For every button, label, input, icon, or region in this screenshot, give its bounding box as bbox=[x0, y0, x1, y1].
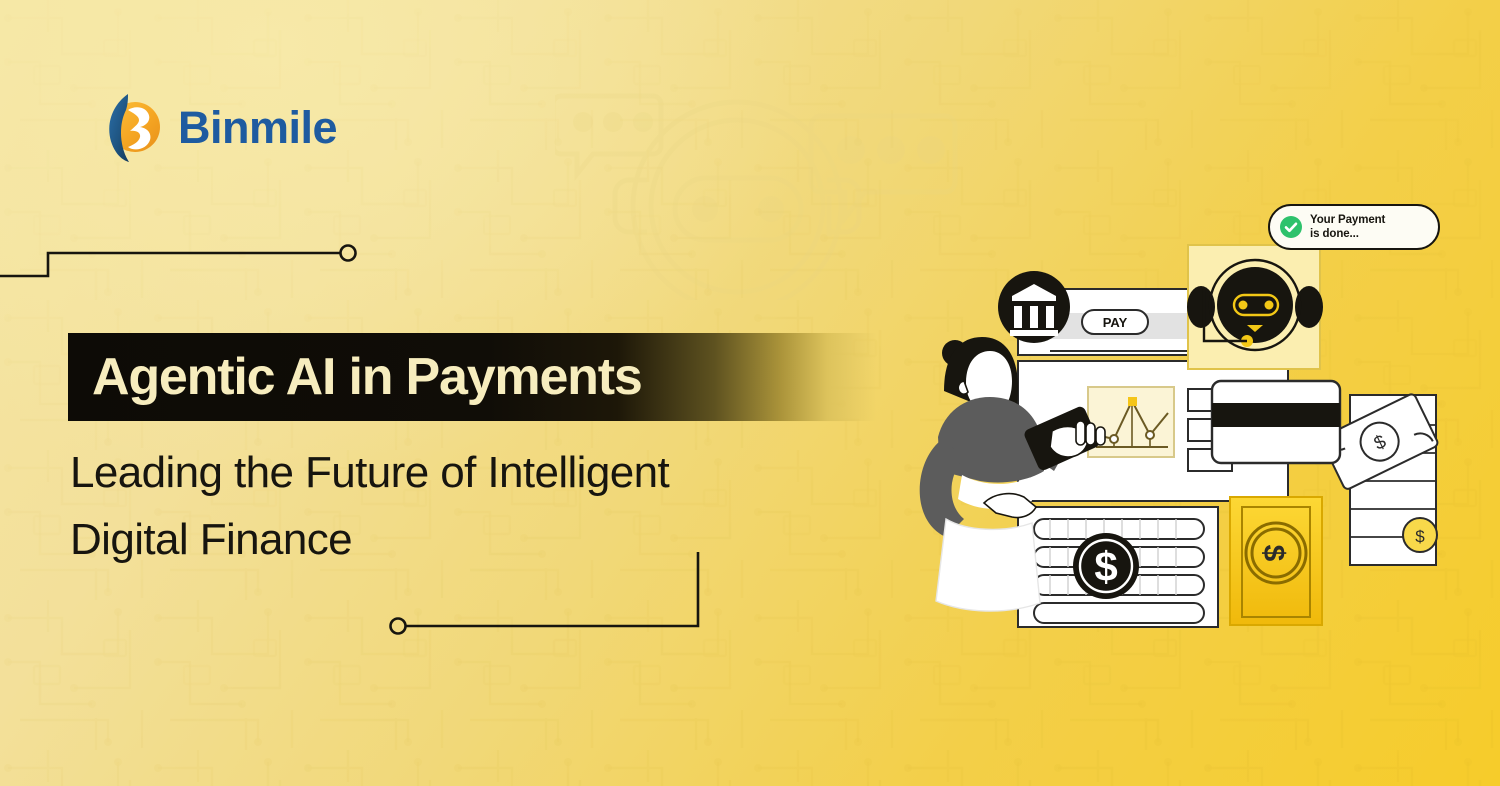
hero-title-band: Agentic AI in Payments bbox=[68, 333, 876, 421]
credit-card-icon bbox=[1212, 381, 1340, 463]
brand-name: Binmile bbox=[178, 105, 337, 150]
payment-toast: Your Payment is done... bbox=[1268, 204, 1440, 250]
payment-illustration: $ $ PAY bbox=[900, 185, 1460, 645]
dollar-coin-icon: $ bbox=[1073, 533, 1139, 599]
top-connector-line bbox=[0, 230, 380, 280]
payment-toast-line-2: is done... bbox=[1310, 227, 1385, 241]
hero-banner: Binmile Agentic AI in Payments Leading t… bbox=[0, 0, 1500, 786]
line-chart-icon bbox=[1088, 387, 1174, 457]
svg-text:$: $ bbox=[1415, 527, 1425, 546]
hero-subtitle-line-2: Digital Finance bbox=[70, 507, 890, 574]
brand-logo[interactable]: Binmile bbox=[98, 92, 337, 162]
hero-subtitle-line-1: Leading the Future of Intelligent bbox=[70, 440, 890, 507]
binmile-logo-icon bbox=[98, 92, 164, 162]
robot-assistant-icon bbox=[1187, 245, 1323, 369]
bank-icon bbox=[998, 271, 1070, 343]
page-title: Agentic AI in Payments bbox=[92, 351, 642, 403]
payment-toast-text: Your Payment is done... bbox=[1310, 213, 1385, 241]
svg-text:$: $ bbox=[1257, 545, 1290, 562]
gold-coin-card-icon: $ bbox=[1230, 497, 1322, 625]
svg-text:$: $ bbox=[1094, 543, 1117, 590]
payment-toast-line-1: Your Payment bbox=[1310, 213, 1385, 227]
hero-subtitle: Leading the Future of Intelligent Digita… bbox=[70, 440, 890, 574]
check-circle-icon bbox=[1280, 216, 1302, 238]
pay-button-label: PAY bbox=[1103, 315, 1128, 330]
